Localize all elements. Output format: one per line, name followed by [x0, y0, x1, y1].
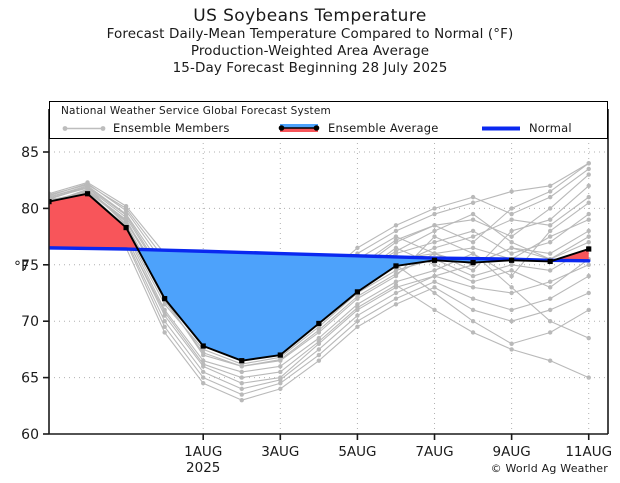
- legend-label-ensemble-members: Ensemble Members: [113, 121, 230, 135]
- temperature-chart-svg: 606570758085°F 1AUG20253AUG5AUG7AUG9AUG1…: [0, 0, 620, 483]
- legend-swatch-ensemble-average: [276, 121, 322, 135]
- x-axis-year-label: 2025: [186, 460, 220, 476]
- legend-item-normal: Normal: [529, 121, 572, 135]
- legend-title: National Weather Service Global Forecast…: [61, 105, 331, 117]
- copyright-notice: © World Ag Weather: [491, 462, 608, 475]
- y-axis-ticks: 606570758085°F: [14, 145, 49, 443]
- x-axis-tick-label: 9AUG: [493, 444, 531, 460]
- x-axis-tick-label: 1AUG: [184, 444, 222, 460]
- x-axis-tick-label: 11AUG: [565, 444, 612, 460]
- y-axis-tick-label: 65: [21, 371, 39, 387]
- y-axis-label: °F: [14, 259, 29, 275]
- x-axis-tick-label: 5AUG: [338, 444, 376, 460]
- legend-swatch-normal: [478, 123, 524, 134]
- y-axis-tick-label: 60: [21, 427, 39, 443]
- y-axis-tick-label: 85: [21, 145, 39, 161]
- legend-label-ensemble-average: Ensemble Average: [328, 121, 438, 135]
- chart-plot-area: 606570758085°F 1AUG20253AUG5AUG7AUG9AUG1…: [0, 0, 620, 483]
- legend-item-ensemble-average: Ensemble Average: [328, 121, 438, 135]
- y-axis-tick-label: 70: [21, 314, 39, 330]
- legend-box: National Weather Service Global Forecast…: [49, 101, 608, 139]
- x-axis-tick-label: 3AUG: [261, 444, 299, 460]
- x-axis-tick-label: 7AUG: [415, 444, 453, 460]
- legend-swatch-ensemble-members: [61, 123, 107, 134]
- y-axis-tick-label: 80: [21, 201, 39, 217]
- legend-item-ensemble-members: Ensemble Members: [113, 121, 230, 135]
- legend-label-normal: Normal: [529, 121, 572, 135]
